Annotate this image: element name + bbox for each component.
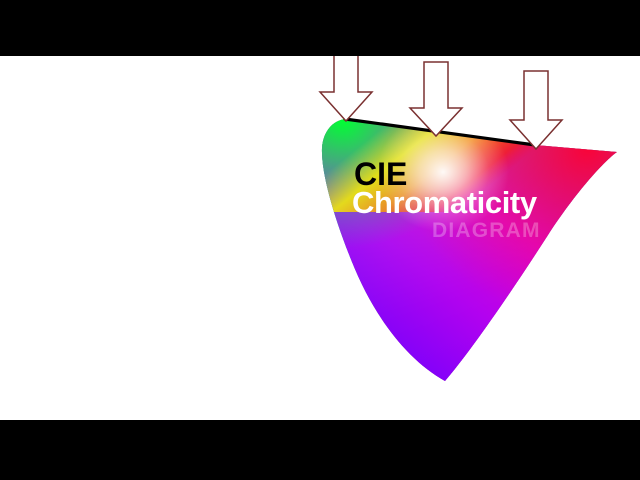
arrow-center-icon — [410, 62, 462, 136]
letterbox-bottom — [0, 420, 640, 480]
arrow-right-icon — [510, 71, 562, 149]
screenshot-stage: CIE Chromaticity DIAGRAM — [0, 0, 640, 480]
letterbox-top — [0, 0, 640, 56]
annotation-arrows — [0, 0, 640, 480]
